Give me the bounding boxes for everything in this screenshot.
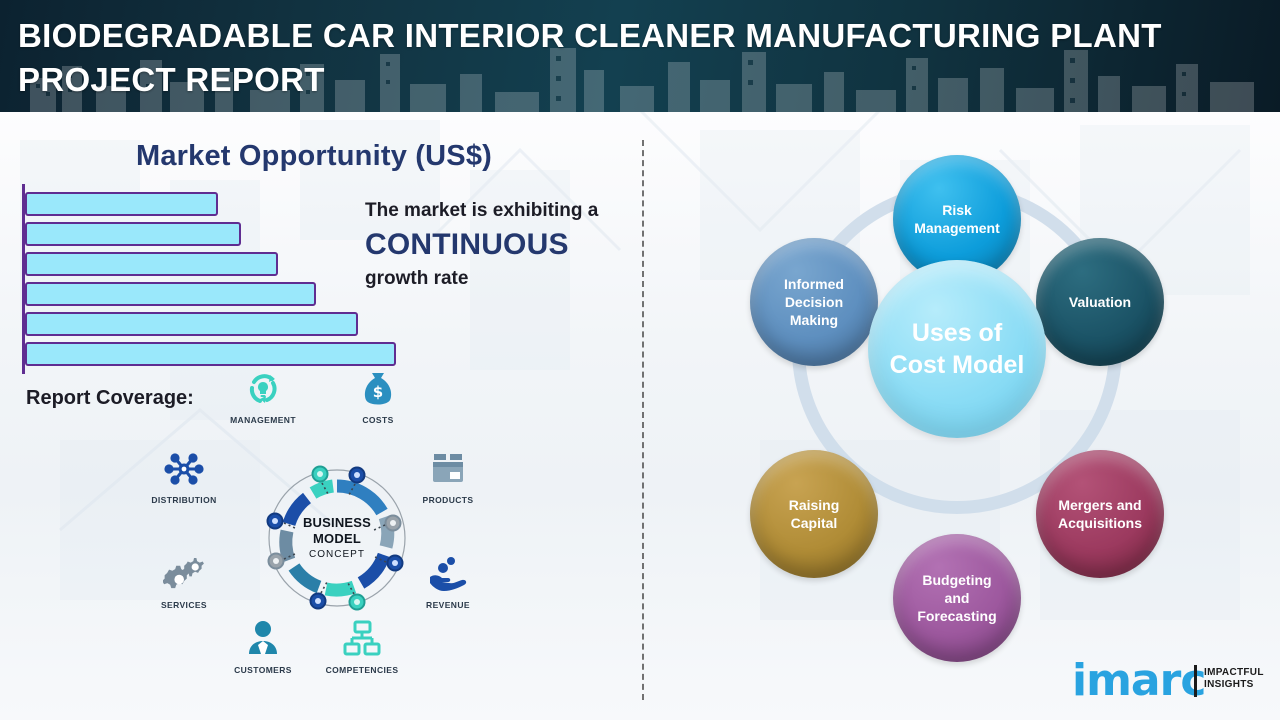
bar-2: [25, 222, 241, 246]
header-band: BIODEGRADABLE CAR INTERIOR CLEANER MANUF…: [0, 0, 1280, 112]
imarc-wordmark: imarc: [1072, 659, 1205, 703]
org-chart-icon: [316, 617, 408, 661]
bm-line-2: MODEL: [262, 531, 412, 547]
slide-root: BIODEGRADABLE CAR INTERIOR CLEANER MANUF…: [0, 0, 1280, 720]
money-bag-icon: $: [332, 367, 424, 411]
node-label: Risk Management: [908, 201, 1006, 237]
bar-3: [25, 252, 278, 276]
svg-text:$: $: [373, 383, 383, 401]
callout-line-1: The market is exhibiting a: [365, 198, 640, 224]
bar-6: [25, 342, 396, 366]
node-informed-decision-making[interactable]: Informed Decision Making: [750, 238, 878, 366]
coverage-item-distribution: DISTRIBUTION: [138, 447, 230, 505]
business-model-text: BUSINESS MODEL CONCEPT: [262, 515, 412, 560]
bm-line-1: BUSINESS: [262, 515, 412, 531]
imarc-logo: imarc IMPACTFUL INSIGHTS: [1072, 655, 1272, 709]
left-panel: Market Opportunity (US$) The market is e…: [0, 112, 642, 720]
coverage-label: SERVICES: [138, 600, 230, 610]
callout-line-3: growth rate: [365, 266, 640, 292]
coverage-label: REVENUE: [402, 600, 494, 610]
node-raising-capital[interactable]: Raising Capital: [750, 450, 878, 578]
coverage-item-products: PRODUCTS: [402, 447, 494, 505]
page-title: BIODEGRADABLE CAR INTERIOR CLEANER MANUF…: [18, 14, 1248, 102]
coverage-label: PRODUCTS: [402, 495, 494, 505]
node-center-uses-of-cost-model[interactable]: Uses of Cost Model: [868, 260, 1046, 438]
imarc-tagline: IMPACTFUL INSIGHTS: [1204, 667, 1264, 691]
node-label: Mergers and Acquisitions: [1052, 496, 1148, 532]
box-package-icon: [402, 447, 494, 491]
business-model-donut: BUSINESS MODEL CONCEPT: [262, 463, 412, 613]
tagline-line-2: INSIGHTS: [1204, 679, 1264, 691]
network-nodes-icon: [138, 447, 230, 491]
market-opportunity-bar-chart: [22, 184, 402, 374]
report-coverage-cluster: MANAGEMENT $ COSTS: [120, 367, 520, 712]
node-label: Raising Capital: [783, 496, 846, 532]
coverage-item-services: SERVICES: [138, 552, 230, 610]
right-panel: Risk Management Valuation Mergers and Ac…: [642, 112, 1280, 720]
node-label: Valuation: [1063, 293, 1137, 311]
coverage-item-costs: $ COSTS: [332, 367, 424, 425]
recycle-bulb-icon: [217, 367, 309, 411]
coverage-item-competencies: COMPETENCIES: [316, 617, 408, 675]
coverage-label: COMPETENCIES: [316, 665, 408, 675]
gears-icon: [138, 552, 230, 596]
coverage-item-customers: CUSTOMERS: [217, 617, 309, 675]
coverage-label: DISTRIBUTION: [138, 495, 230, 505]
market-opportunity-title: Market Opportunity (US$): [24, 140, 604, 173]
coverage-item-management: MANAGEMENT: [217, 367, 309, 425]
node-valuation[interactable]: Valuation: [1036, 238, 1164, 366]
coverage-label: MANAGEMENT: [217, 415, 309, 425]
coverage-label: CUSTOMERS: [217, 665, 309, 675]
node-budgeting-forecasting[interactable]: Budgeting and Forecasting: [893, 534, 1021, 662]
bar-5: [25, 312, 358, 336]
market-callout: The market is exhibiting a CONTINUOUS gr…: [365, 198, 640, 292]
coverage-item-revenue: REVENUE: [402, 552, 494, 610]
node-label: Budgeting and Forecasting: [911, 571, 1002, 625]
callout-line-2: CONTINUOUS: [365, 224, 640, 266]
logo-divider: [1194, 665, 1197, 697]
tagline-line-1: IMPACTFUL: [1204, 667, 1264, 679]
bar-4: [25, 282, 316, 306]
user-person-icon: [217, 617, 309, 661]
hand-coins-icon: [402, 552, 494, 596]
node-mergers-acquisitions[interactable]: Mergers and Acquisitions: [1036, 450, 1164, 578]
bm-line-3: CONCEPT: [262, 549, 412, 560]
coverage-label: COSTS: [332, 415, 424, 425]
node-label: Uses of Cost Model: [884, 317, 1031, 381]
bar-1: [25, 192, 218, 216]
node-label: Informed Decision Making: [778, 275, 850, 329]
